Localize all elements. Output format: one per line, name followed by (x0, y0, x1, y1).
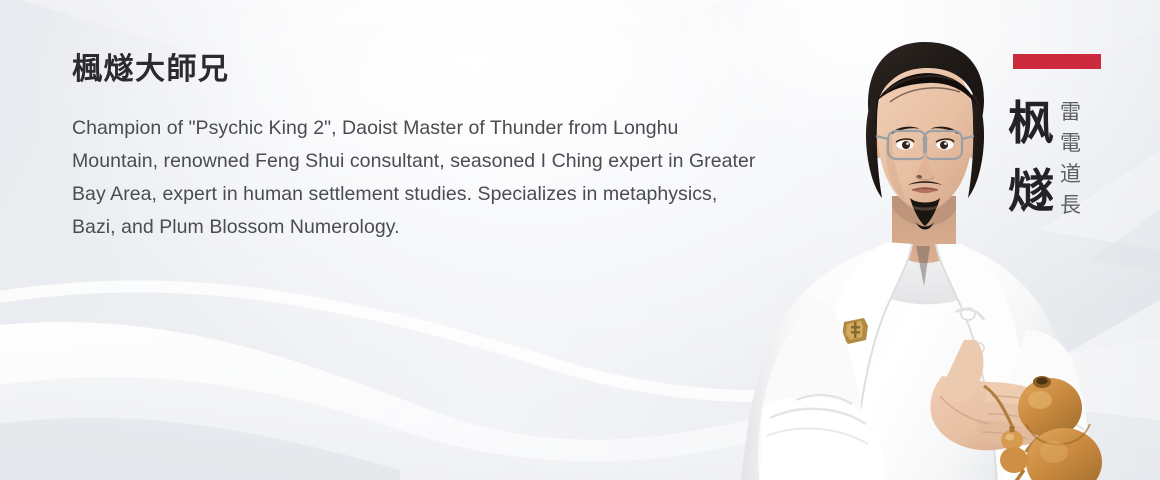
nameplate-name-char-2: 燧 (1008, 157, 1054, 225)
nameplate-title-char-3: 道 (1060, 159, 1081, 190)
nameplate-title: 雷 電 道 長 (1060, 97, 1081, 221)
profile-description: Champion of "Psychic King 2", Daoist Mas… (72, 112, 762, 244)
nameplate: 枫 燧 雷 電 道 長 (1008, 54, 1118, 225)
nameplate-title-char-4: 長 (1060, 190, 1081, 221)
text-column: 楓燧大師兄 Champion of "Psychic King 2", Daoi… (72, 52, 772, 244)
accent-bar (1013, 54, 1101, 69)
gold-brooch (842, 318, 868, 344)
profile-banner: 楓燧大師兄 Champion of "Psychic King 2", Daoi… (0, 0, 1160, 480)
nameplate-name-char-1: 枫 (1008, 89, 1054, 157)
nameplate-title-char-2: 電 (1060, 128, 1081, 159)
nameplate-title-char-1: 雷 (1060, 97, 1081, 128)
page-title: 楓燧大師兄 (72, 52, 772, 88)
nameplate-name: 枫 燧 (1008, 89, 1054, 225)
